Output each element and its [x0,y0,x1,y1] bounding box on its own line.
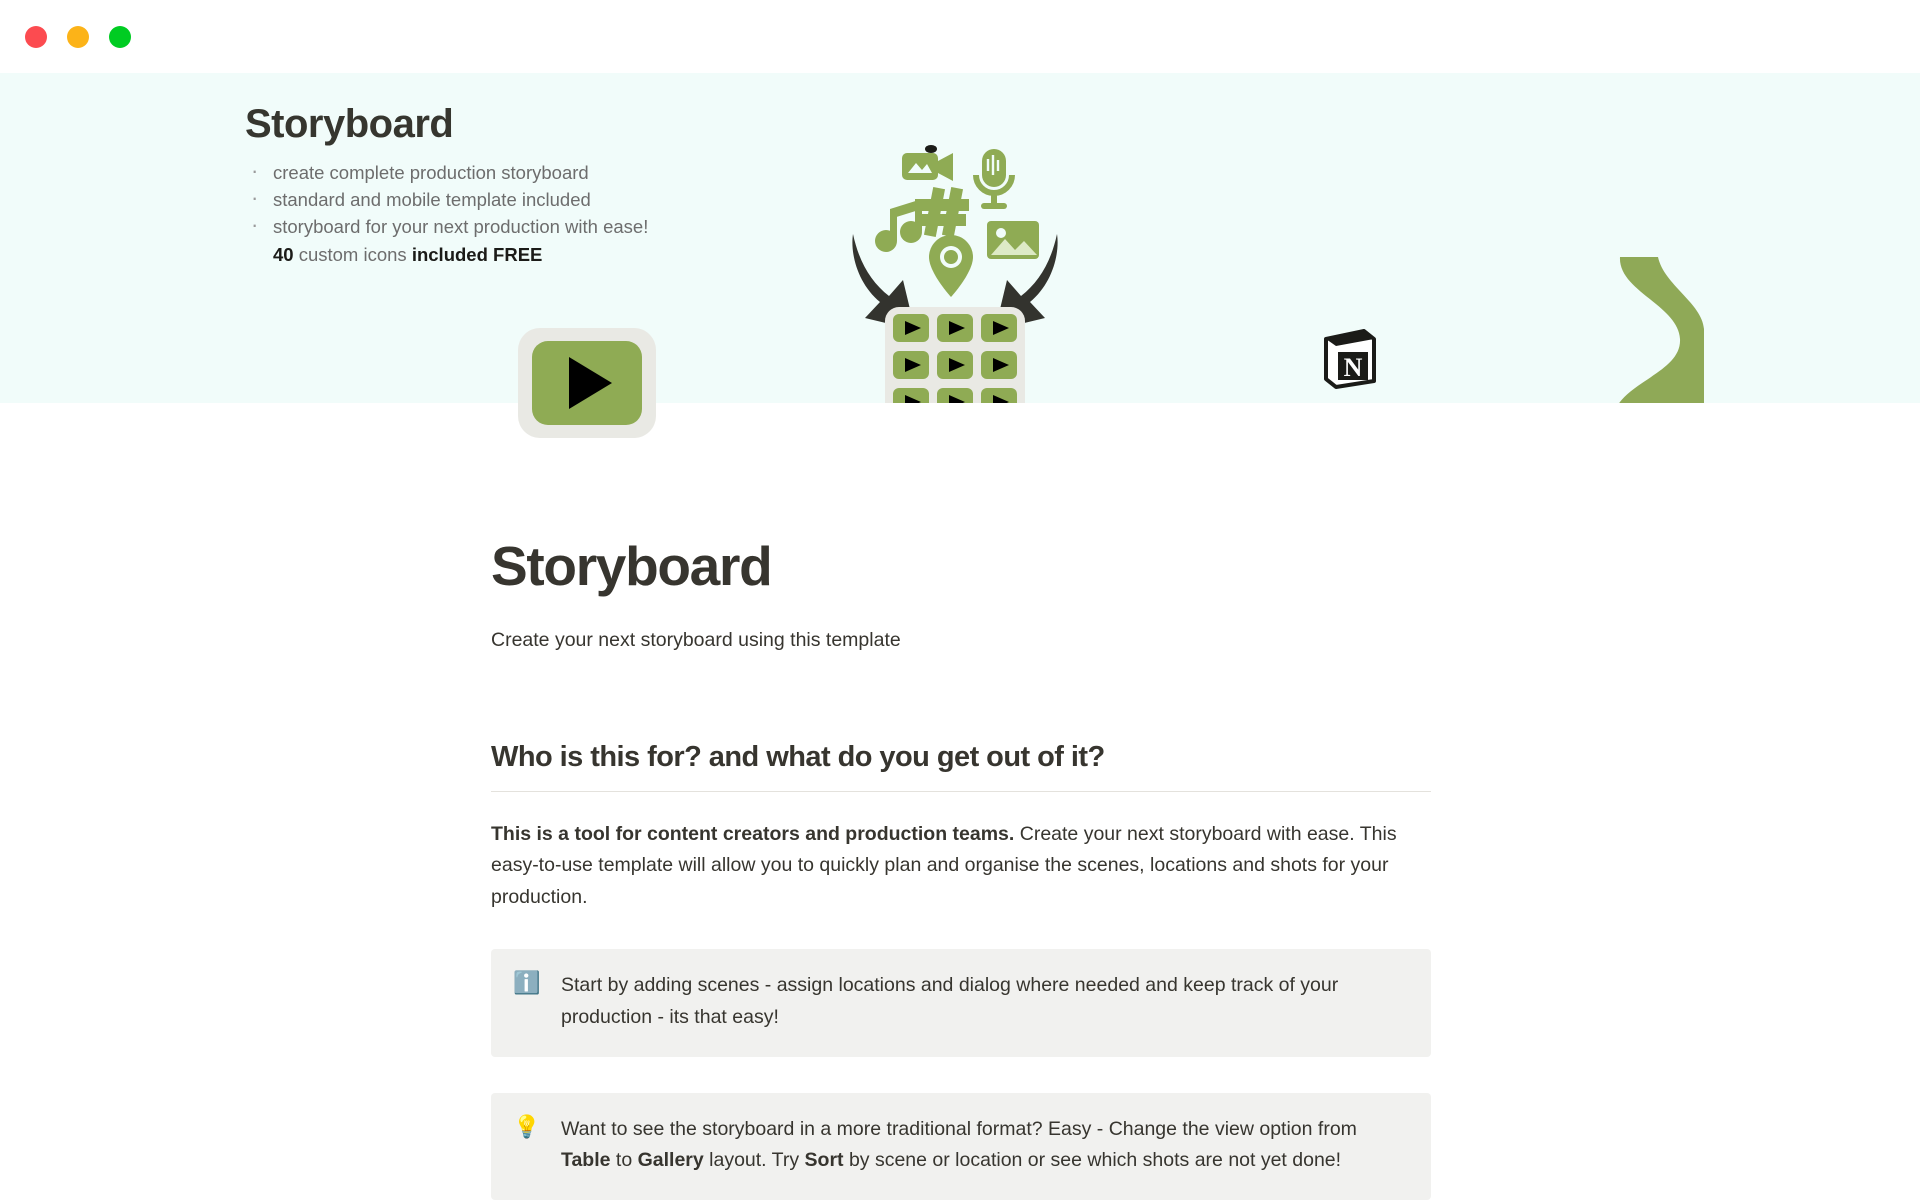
section-divider [491,791,1431,792]
free-middle: custom icons [294,244,412,265]
banner-promo-bullet: storyboard for your next production with… [245,213,765,240]
tip-bold-gallery: Gallery [638,1149,704,1171]
banner-promo-block: Storyboard create complete production st… [245,101,765,266]
close-window-button[interactable] [25,26,47,48]
tip-part-2: to [610,1149,637,1171]
section-paragraph[interactable]: This is a tool for content creators and … [491,819,1421,914]
window-traffic-lights [25,26,131,48]
tip-part-4: by scene or location or see which shots … [844,1149,1342,1171]
document-body: Storyboard Create your next storyboard u… [0,403,1920,1200]
minimize-window-button[interactable] [67,26,89,48]
page-subtitle[interactable]: Create your next storyboard using this t… [491,626,1431,655]
hashtag-icon [924,194,963,230]
svg-text:N: N [1344,353,1363,382]
maximize-window-button[interactable] [109,26,131,48]
camcorder-icon [902,145,953,181]
paragraph-lead: This is a tool for content creators and … [491,823,1014,845]
tip-part-1: Want to see the storyboard in a more tra… [561,1118,1357,1140]
free-count: 40 [273,244,294,265]
banner-promo-bullet: create complete production storyboard [245,159,765,186]
banner-promo-bullet: standard and mobile template included [245,186,765,213]
image-icon [987,221,1039,259]
tip-part-3: layout. Try [704,1149,805,1171]
banner-promo-free-line: 40 custom icons included FREE [245,244,765,266]
banner-promo-title: Storyboard [245,101,765,147]
storyboard-media-illustration [805,131,1105,403]
play-triangle-icon [569,357,612,409]
window-titlebar [0,0,1920,73]
play-button-grid [885,307,1025,403]
free-emphasis: included FREE [412,244,543,265]
microphone-icon [976,149,1012,209]
cover-banner: Storyboard create complete production st… [0,73,1920,403]
callout-tip-text: Want to see the storyboard in a more tra… [561,1114,1407,1177]
information-icon: ℹ️ [513,970,539,996]
location-pin-icon [929,235,973,297]
callout-tip[interactable]: 💡 Want to see the storyboard in a more t… [491,1093,1431,1200]
music-note-icon [875,199,922,252]
lightbulb-icon: 💡 [513,1114,539,1140]
notion-template-logo-lockup: N NOTION TEMPLATE BY LANE25 paving digit… [1288,285,1698,403]
callout-info-text: Start by adding scenes - assign location… [561,970,1407,1033]
banner-promo-list: create complete production storyboard st… [245,159,765,241]
tip-bold-table: Table [561,1149,610,1171]
page-title[interactable]: Storyboard [491,536,1431,597]
section-heading[interactable]: Who is this for? and what do you get out… [491,741,1431,774]
callout-info[interactable]: ℹ️ Start by adding scenes - assign locat… [491,949,1431,1056]
notion-cube-icon: N [1320,327,1378,389]
lane25-road-icon [1606,257,1704,403]
tip-bold-sort: Sort [805,1149,844,1171]
